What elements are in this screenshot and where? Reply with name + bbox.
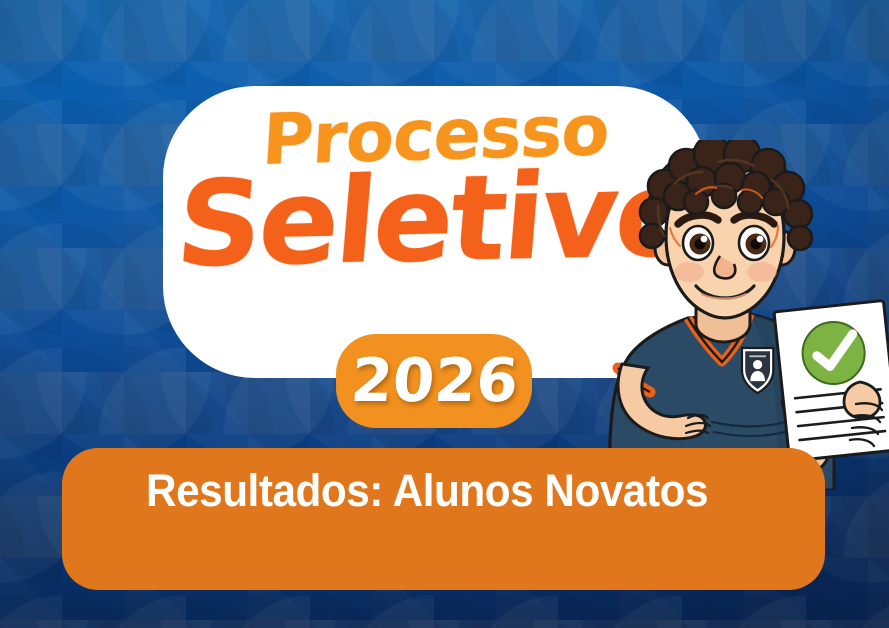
- results-banner-label: Resultados: Alunos Novatos: [146, 468, 708, 513]
- results-banner: Resultados: Alunos Novatos: [62, 448, 825, 590]
- result-sheet: [774, 301, 889, 462]
- student-illustration: [592, 140, 889, 490]
- year-badge-label: 2026: [348, 351, 519, 411]
- promo-poster: Processo Seletivo 2026: [0, 0, 889, 628]
- year-badge: 2026: [336, 334, 532, 428]
